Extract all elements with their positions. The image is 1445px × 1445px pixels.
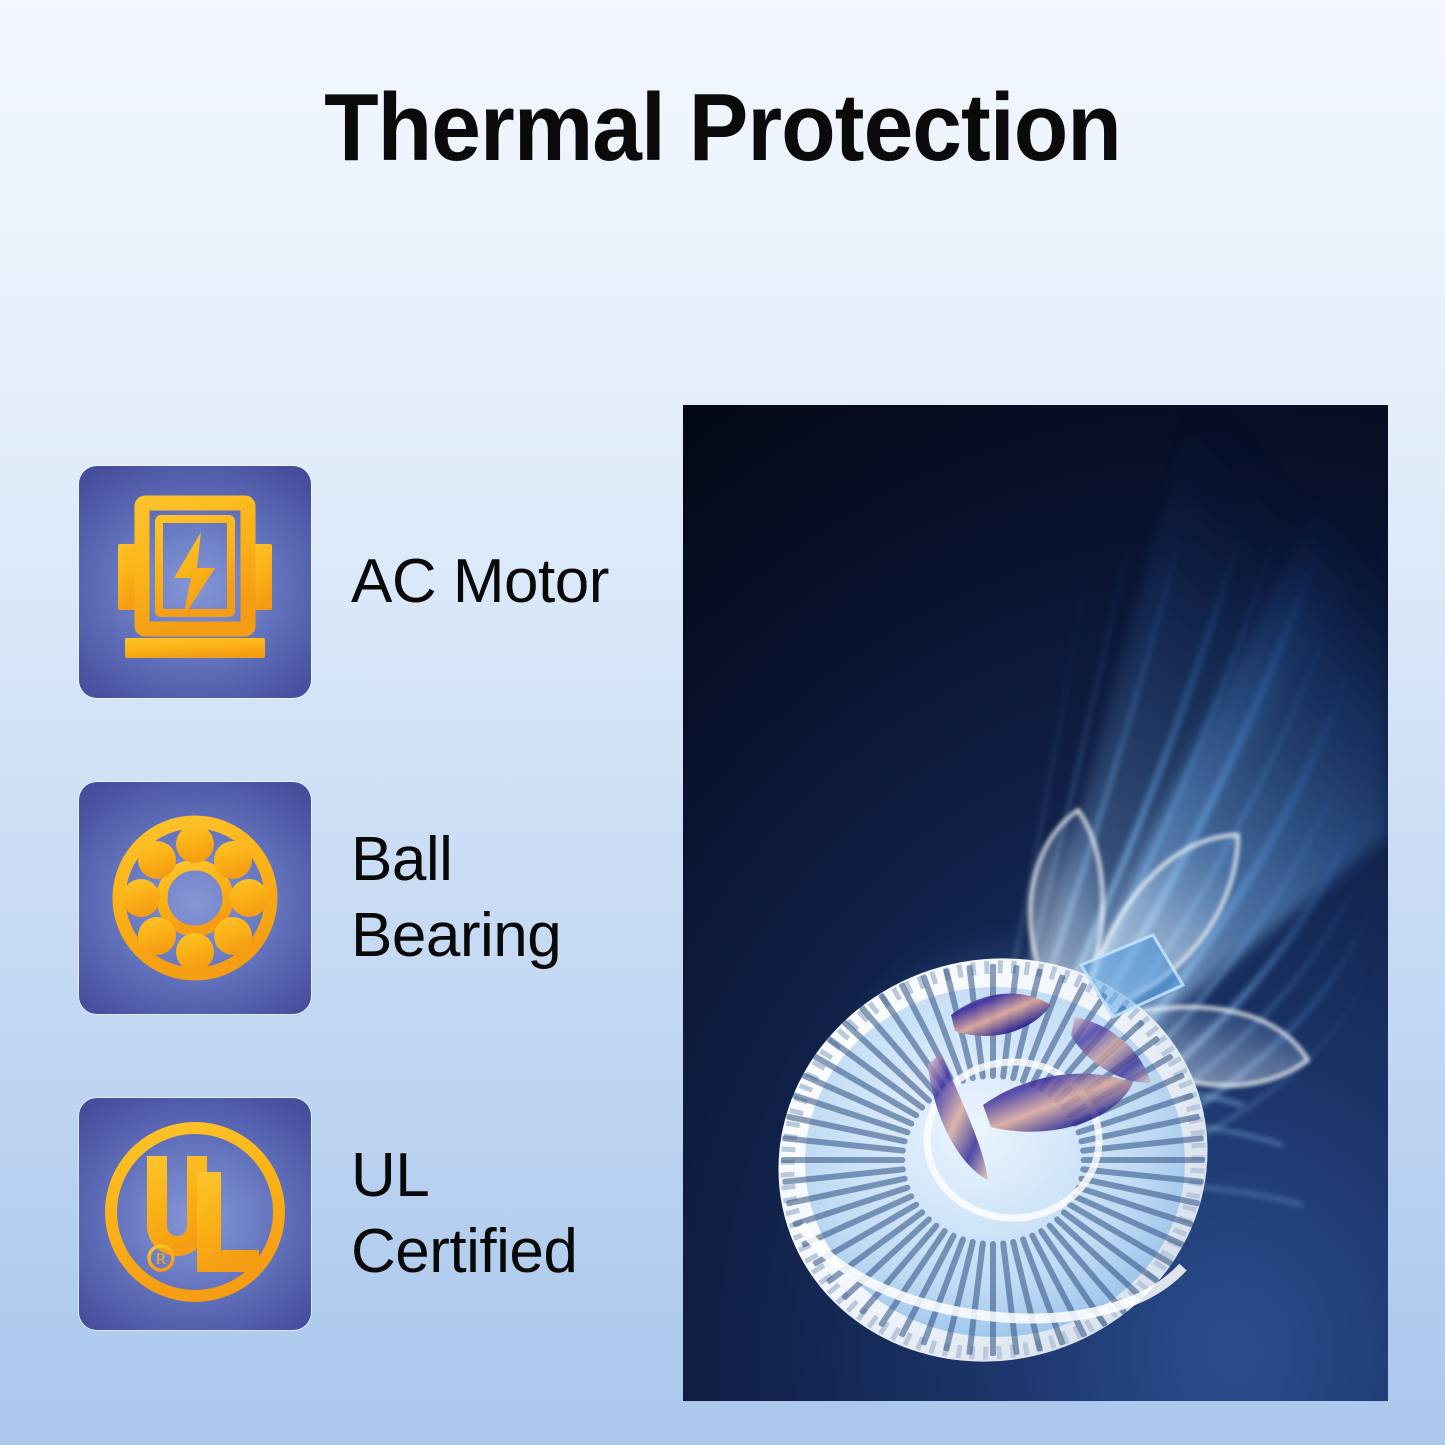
icon-tile-ul-certified: R xyxy=(79,1098,311,1330)
feature-row-ball-bearing: Ball Bearing xyxy=(79,782,659,1014)
feature-label-ac-motor: AC Motor xyxy=(351,544,609,620)
ul-certified-icon: R xyxy=(79,1098,311,1330)
product-image xyxy=(683,405,1388,1401)
feature-label-line-1: AC Motor xyxy=(351,547,609,616)
product-image-panel xyxy=(683,405,1388,1401)
page-title: Thermal Protection xyxy=(51,78,1395,179)
feature-list: AC Motor xyxy=(79,466,659,1330)
infographic-root: Thermal Protection xyxy=(0,0,1445,1445)
feature-label-line-1: UL xyxy=(351,1141,429,1210)
feature-label-line-2: Bearing xyxy=(351,898,561,974)
ball-bearing-icon xyxy=(79,782,311,1014)
icon-tile-ac-motor xyxy=(79,466,311,698)
feature-row-ul-certified: R UL Certified xyxy=(79,1098,659,1330)
feature-label-ball-bearing: Ball Bearing xyxy=(351,822,561,973)
feature-row-ac-motor: AC Motor xyxy=(79,466,659,698)
fan-grille-graphic xyxy=(683,405,1388,1401)
feature-label-line-2: Certified xyxy=(351,1214,577,1290)
ac-motor-icon xyxy=(79,466,311,698)
svg-text:R: R xyxy=(156,1251,167,1268)
feature-label-ul-certified: UL Certified xyxy=(351,1138,577,1289)
icon-tile-ball-bearing xyxy=(79,782,311,1014)
feature-label-line-1: Ball xyxy=(351,825,452,894)
